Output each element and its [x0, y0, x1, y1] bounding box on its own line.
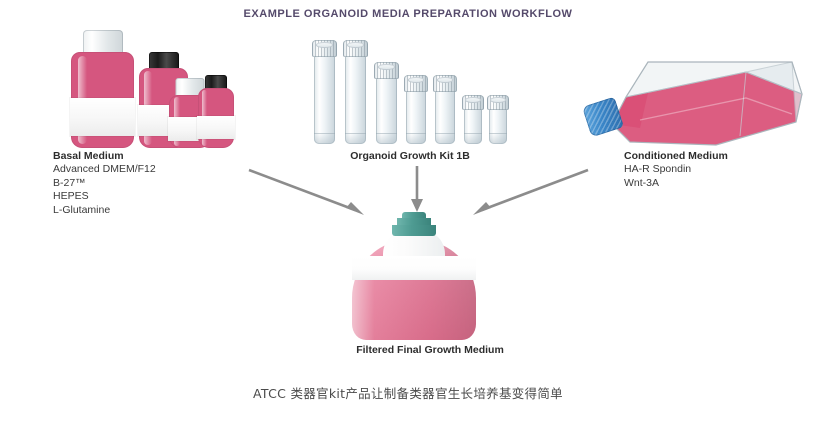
arrow-basal-to-final	[249, 170, 355, 210]
basal-component-4: L-Glutamine	[53, 204, 156, 217]
conditioned-medium-heading: Conditioned Medium	[624, 150, 728, 163]
bottle-small	[169, 95, 211, 148]
basal-component-3: HEPES	[53, 190, 156, 203]
bottle-xsmall	[198, 88, 234, 148]
basal-component-2: B-27™	[53, 177, 156, 190]
basal-medium-label-block: Basal Medium Advanced DMEM/F12 B-27™ HEP…	[53, 150, 156, 217]
cryovial-7	[489, 95, 507, 144]
filter-bottle-cap	[392, 212, 436, 236]
page-title: EXAMPLE ORGANOID MEDIA PREPARATION WORKF…	[0, 8, 816, 20]
filter-bottle-icon	[352, 212, 476, 340]
bottle-medium	[139, 68, 188, 148]
bottle-large	[71, 52, 134, 148]
cryovial-5	[435, 75, 455, 144]
cryovial-3	[376, 62, 397, 144]
basal-medium-heading: Basal Medium	[53, 150, 156, 163]
conditioned-component-1: HA-R Spondin	[624, 163, 728, 176]
cryovial-1	[314, 40, 335, 144]
diagram-canvas: EXAMPLE ORGANOID MEDIA PREPARATION WORKF…	[0, 0, 816, 426]
figure-caption: ATCC 类器官kit产品让制备类器官生长培养基变得简单	[0, 383, 816, 402]
cryovial-4	[406, 75, 426, 144]
filtered-final-growth-medium-heading: Filtered Final Growth Medium	[300, 344, 560, 356]
conditioned-medium-label-block: Conditioned Medium HA-R Spondin Wnt-3A	[624, 150, 728, 190]
organoid-growth-kit-heading: Organoid Growth Kit 1B	[280, 150, 540, 162]
flask-cap	[582, 97, 624, 138]
cryovial-6	[464, 95, 482, 144]
cryovial-2	[345, 40, 366, 144]
arrow-conditioned-to-final	[482, 170, 588, 210]
conditioned-component-2: Wnt-3A	[624, 177, 728, 190]
basal-component-1: Advanced DMEM/F12	[53, 163, 156, 176]
